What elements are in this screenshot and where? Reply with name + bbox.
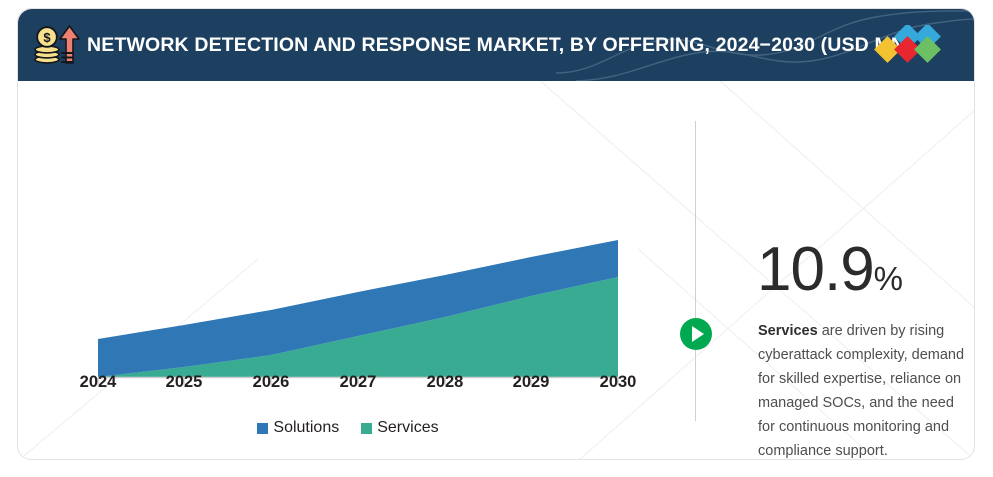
legend-label-solutions: Solutions	[273, 419, 339, 437]
stacked-area-chart	[18, 81, 678, 411]
cagr-number: 10.9	[757, 235, 874, 304]
chart-legend: Solutions Services	[18, 419, 678, 437]
x-tick-2030: 2030	[588, 373, 648, 392]
legend-swatch-services	[361, 423, 372, 434]
vertical-divider	[695, 121, 696, 421]
insight-panel: 10.9% Services are driven by rising cybe…	[678, 81, 975, 460]
header-bar: $ NETWORK DETECTION AND RESPONSE MARKET,…	[18, 9, 975, 81]
insight-description: Services are driven by rising cyberattac…	[758, 319, 968, 460]
x-tick-2027: 2027	[328, 373, 388, 392]
page-title: NETWORK DETECTION AND RESPONSE MARKET, B…	[87, 9, 912, 81]
insight-lead-term: Services	[758, 323, 818, 339]
legend-label-services: Services	[377, 419, 438, 437]
money-growth-icon: $	[30, 19, 82, 71]
cagr-unit: %	[874, 260, 903, 297]
x-tick-2025: 2025	[154, 373, 214, 392]
legend-item-solutions[interactable]: Solutions	[257, 419, 339, 437]
chart-panel: 2024 2025 2026 2027 2028 2029 2030 Solut…	[18, 81, 678, 460]
legend-swatch-solutions	[257, 423, 268, 434]
play-circle-icon[interactable]	[678, 316, 714, 352]
x-tick-2024: 2024	[68, 373, 128, 392]
insight-body-text: are driven by rising cyberattack complex…	[758, 323, 964, 459]
x-tick-2029: 2029	[501, 373, 561, 392]
infographic-card: $ NETWORK DETECTION AND RESPONSE MARKET,…	[17, 8, 975, 460]
brand-diamonds-logo	[874, 25, 948, 67]
svg-text:$: $	[43, 30, 51, 45]
legend-item-services[interactable]: Services	[361, 419, 438, 437]
x-tick-2028: 2028	[415, 373, 475, 392]
x-tick-2026: 2026	[241, 373, 301, 392]
cagr-value: 10.9%	[757, 239, 903, 301]
